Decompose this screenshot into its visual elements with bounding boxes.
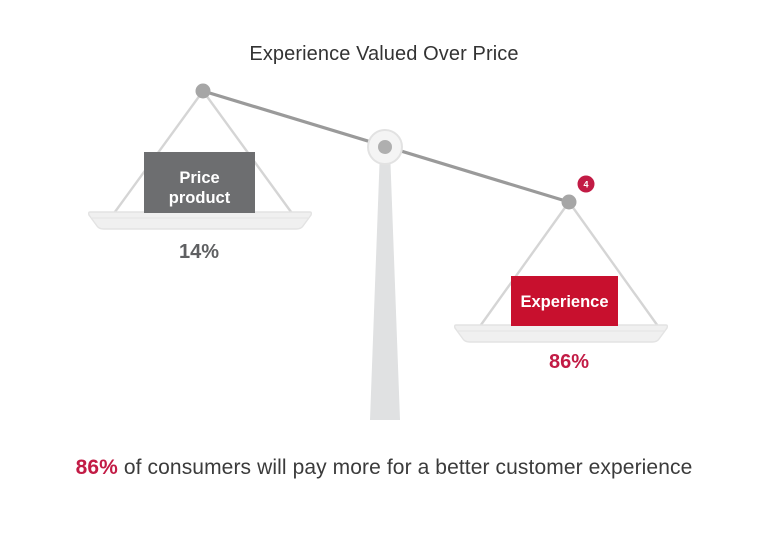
- right-beam-endpoint: [562, 195, 577, 210]
- price-product-label-line2: product: [169, 189, 231, 207]
- caption-stat: 86%: [76, 456, 118, 479]
- fulcrum-column: [370, 150, 400, 420]
- right-pan-tray: [455, 325, 668, 342]
- left-pan-tray: [89, 212, 312, 229]
- right-percent-label: 86%: [549, 351, 589, 373]
- balance-scale-graphic: Price product 14% Experience 86% 4: [0, 0, 768, 533]
- left-beam-endpoint: [196, 84, 211, 99]
- fulcrum-pivot-center: [378, 140, 392, 154]
- price-product-label-line1: Price: [179, 169, 219, 187]
- left-percent-label: 14%: [179, 241, 219, 263]
- caption: 86% of consumers will pay more for a bet…: [0, 456, 768, 480]
- experience-label: Experience: [520, 293, 608, 311]
- step-badge-number: 4: [583, 180, 588, 190]
- caption-text: of consumers will pay more for a better …: [118, 456, 692, 479]
- infographic-root: Experience Valued Over Price Price produ…: [0, 0, 768, 533]
